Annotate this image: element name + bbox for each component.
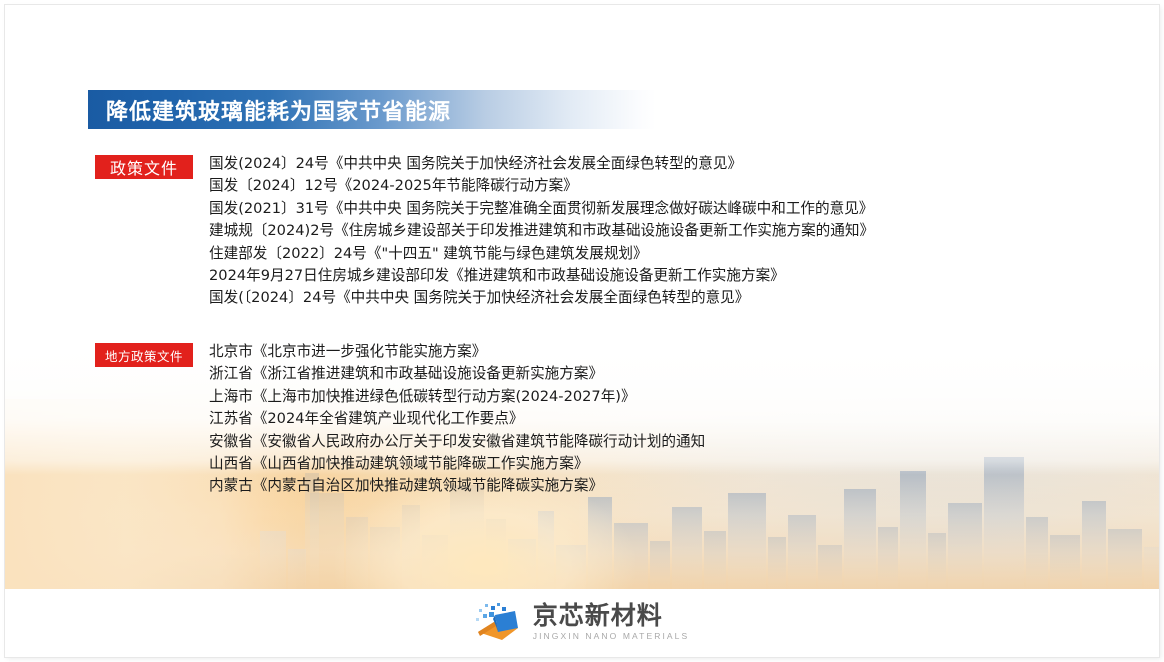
page-title: 降低建筑玻璃能耗为国家节省能源 — [106, 94, 451, 126]
national-policy-list: 国发(2024〕24号《中共中央 国务院关于加快经济社会发展全面绿色转型的意见》… — [209, 153, 874, 310]
list-item: 山西省《山西省加快推动建筑领域节能降碳工作实施方案》 — [209, 453, 705, 475]
list-item: 建城规〔2024)2号《住房城乡建设部关于印发推进建筑和市政基础设施设备更新工作… — [209, 220, 874, 242]
company-logo: 京芯新材料 JINGXIN NANO MATERIALS — [5, 601, 1159, 643]
logo-chinese-name: 京芯新材料 — [533, 603, 690, 628]
list-item: 国发(〔2024〕24号《中共中央 国务院关于加快经济社会发展全面绿色转型的意见… — [209, 287, 874, 309]
list-item: 国发〔2024〕12号《2024-2025年节能降碳行动方案》 — [209, 175, 874, 197]
badge-national-policy: 政策文件 — [95, 155, 193, 179]
section-local-policy: 地方政策文件 北京市《北京市进一步强化节能实施方案》 浙江省《浙江省推进建筑和市… — [95, 343, 705, 498]
slide-canvas: 降低建筑玻璃能耗为国家节省能源 政策文件 国发(2024〕24号《中共中央 国务… — [5, 5, 1159, 657]
list-item: 国发(2024〕24号《中共中央 国务院关于加快经济社会发展全面绿色转型的意见》 — [209, 153, 874, 175]
logo-english-name: JINGXIN NANO MATERIALS — [533, 632, 690, 641]
list-item: 浙江省《浙江省推进建筑和市政基础设施设备更新实施方案》 — [209, 363, 705, 385]
list-item: 内蒙古《内蒙古自治区加快推动建筑领域节能降碳实施方案》 — [209, 475, 705, 497]
list-item: 住建部发〔2022〕24号《"十四五" 建筑节能与绿色建筑发展规划》 — [209, 243, 874, 265]
jingxin-logo-icon — [475, 601, 521, 643]
list-item: 北京市《北京市进一步强化节能实施方案》 — [209, 341, 705, 363]
list-item: 国发(2021〕31号《中共中央 国务院关于完整准确全面贯彻新发展理念做好碳达峰… — [209, 198, 874, 220]
list-item: 2024年9月27日住房城乡建设部印发《推进建筑和市政基础设施设备更新工作实施方… — [209, 265, 874, 287]
slide-title-bar: 降低建筑玻璃能耗为国家节省能源 — [88, 90, 656, 129]
badge-local-policy: 地方政策文件 — [95, 343, 193, 367]
list-item: 江苏省《2024年全省建筑产业现代化工作要点》 — [209, 408, 705, 430]
slide-footer: 京芯新材料 JINGXIN NANO MATERIALS — [5, 589, 1159, 657]
list-item: 上海市《上海市加快推进绿色低碳转型行动方案(2024-2027年)》 — [209, 386, 705, 408]
section-national-policy: 政策文件 国发(2024〕24号《中共中央 国务院关于加快经济社会发展全面绿色转… — [95, 155, 874, 310]
local-policy-list: 北京市《北京市进一步强化节能实施方案》 浙江省《浙江省推进建筑和市政基础设施设备… — [209, 341, 705, 498]
logo-text-block: 京芯新材料 JINGXIN NANO MATERIALS — [533, 603, 690, 641]
list-item: 安徽省《安徽省人民政府办公厅关于印发安徽省建筑节能降碳行动计划的通知 — [209, 431, 705, 453]
